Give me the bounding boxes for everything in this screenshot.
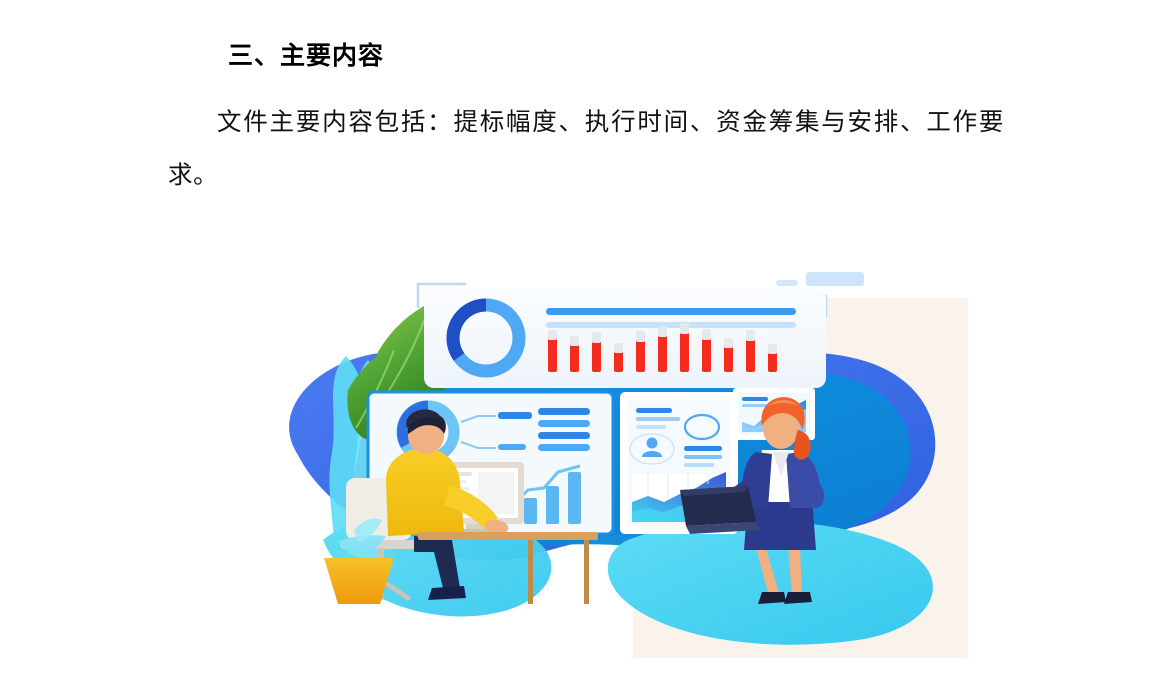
page-heading: 三、主要内容 — [228, 36, 384, 72]
body-paragraph: 文件主要内容包括：提标幅度、执行时间、资金筹集与安排、工作要求。 — [168, 96, 1004, 202]
data-analytics-illustration — [228, 240, 998, 670]
top-dashboard-card[interactable] — [424, 288, 826, 388]
